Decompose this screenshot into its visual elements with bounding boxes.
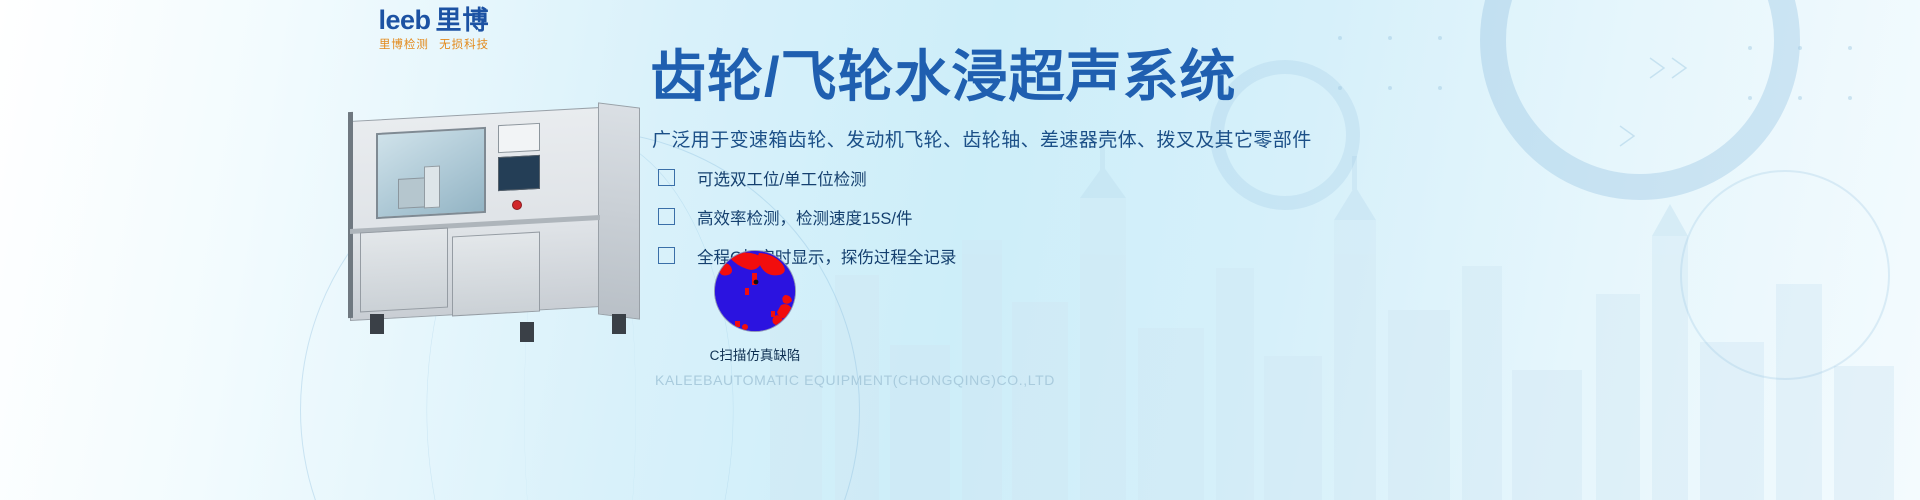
cscan-caption: C扫描仿真缺陷	[670, 344, 840, 364]
hero-banner: leeb里博 里博检测 无损科技 齿轮/飞轮水浸超声系统 广泛用于变速箱齿轮、发…	[0, 0, 1920, 500]
logo-latin-text: leeb	[378, 5, 430, 35]
logo-wordmark: leeb里博	[344, 6, 524, 34]
machine-door-right	[452, 232, 540, 317]
logo-tagline-part-2: 无损科技	[439, 39, 489, 51]
cscan-defect-image	[714, 250, 796, 332]
machine-left-frame	[348, 112, 353, 318]
company-footer-text: KALEEBAUTOMATIC EQUIPMENT(CHONGQING)CO.,…	[655, 372, 1055, 388]
logo-chinese-text: 里博	[436, 5, 490, 35]
checkbox-icon	[658, 169, 675, 186]
page-title: 齿轮/飞轮水浸超声系统	[650, 46, 1237, 108]
machine-leg	[520, 322, 534, 342]
machine-internal-probe	[424, 166, 440, 209]
feature-label: 高效率检测，检测速度15S/件	[697, 205, 912, 229]
page-subtitle: 广泛用于变速箱齿轮、发动机飞轮、齿轮轴、差速器壳体、拨叉及其它零部件	[652, 125, 1312, 152]
cscan-sample: C扫描仿真缺陷	[670, 250, 840, 364]
machine-door-left	[360, 228, 448, 313]
machine-upper-panel	[498, 123, 540, 153]
brand-logo[interactable]: leeb里博 里博检测 无损科技	[344, 6, 524, 52]
machine-leg	[370, 314, 384, 334]
machine-side-panel	[598, 102, 640, 319]
list-item: 高效率检测，检测速度15S/件	[658, 199, 956, 234]
hero-content: 齿轮/飞轮水浸超声系统 广泛用于变速箱齿轮、发动机飞轮、齿轮轴、差速器壳体、拨叉…	[650, 0, 1650, 500]
feature-label: 可选双工位/单工位检测	[697, 166, 867, 190]
machine-leg	[612, 314, 626, 334]
product-photo-ultrasonic-machine	[340, 100, 650, 350]
logo-tagline-part-1: 里博检测	[379, 39, 429, 51]
machine-emergency-stop-button	[512, 200, 522, 210]
checkbox-icon	[658, 208, 675, 225]
logo-tagline: 里博检测 无损科技	[344, 36, 524, 52]
gear-ring-outline	[1680, 170, 1890, 380]
cscan-defect-map	[715, 251, 796, 332]
machine-hmi-screen	[498, 155, 540, 191]
list-item: 可选双工位/单工位检测	[658, 160, 956, 195]
